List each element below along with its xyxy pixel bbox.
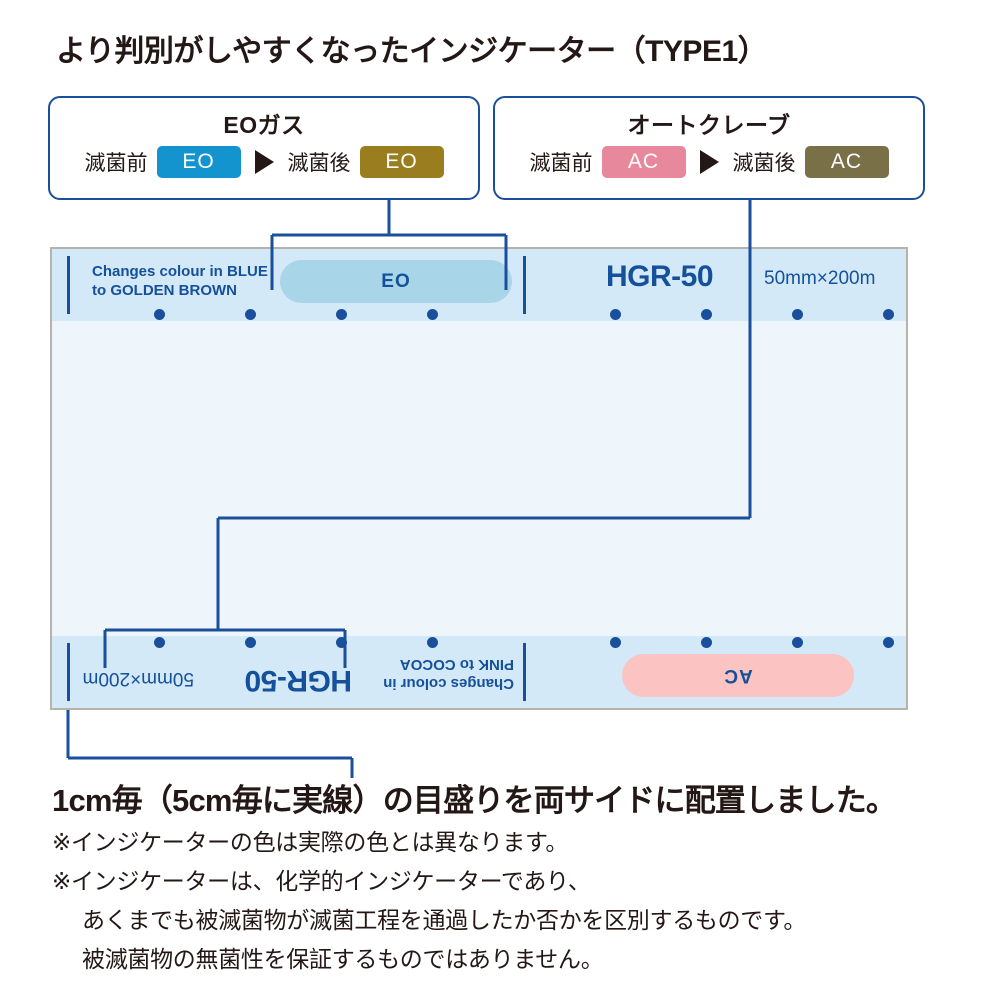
tick-dot-bottom <box>245 637 256 648</box>
tape-band-bottom: Changes colour in PINK to COCOA AC HGR-5… <box>52 636 906 708</box>
tick-solid-bottom <box>523 643 526 701</box>
tape-panel: Changes colour in BLUE to GOLDEN BROWN E… <box>50 247 908 710</box>
arrow-right-icon-eo <box>255 150 274 174</box>
tick-dot-bottom <box>154 637 165 648</box>
poster-root: より判別がしやすくなったインジケーター（TYPE1） EOガス 滅菌前 EO 滅… <box>0 0 1000 1000</box>
tick-dot-bottom <box>701 637 712 648</box>
tape-band-top: Changes colour in BLUE to GOLDEN BROWN E… <box>52 249 906 321</box>
tape-top-changes-text: Changes colour in BLUE to GOLDEN BROWN <box>92 263 268 301</box>
tick-solid-top <box>523 256 526 314</box>
legend-after-label-ac: 滅菌後 <box>733 147 796 177</box>
arrow-right-icon-ac <box>700 150 719 174</box>
footer-note-2: ※インジケーターは、化学的インジケーターであり、 <box>52 862 591 896</box>
tick-solid-bottom <box>67 643 70 701</box>
tape-bottom-model-name: HGR-50 <box>245 663 352 697</box>
legend-row-eo-gas: 滅菌前 EO 滅菌後 EO <box>50 146 478 178</box>
tick-dot-top <box>245 309 256 320</box>
tick-solid-top <box>67 256 70 314</box>
tape-bottom-size: 50mm×200m <box>83 667 194 689</box>
tape-top-changes-line2: to GOLDEN BROWN <box>92 282 268 301</box>
tape-top-size: 50mm×200m <box>764 268 875 290</box>
tape-bottom-content: Changes colour in PINK to COCOA AC HGR-5… <box>52 636 906 708</box>
tape-top-changes-line1: Changes colour in BLUE <box>92 263 268 282</box>
footer-headline: 1cm毎（5cm毎に実線）の目盛りを両サイドに配置しました。 <box>52 775 896 820</box>
tick-dot-top <box>154 309 165 320</box>
page-title: より判別がしやすくなったインジケーター（TYPE1） <box>56 26 767 70</box>
tick-dot-bottom <box>610 637 621 648</box>
footer-note-3: あくまでも被滅菌物が滅菌工程を通過したか否かを区別するものです。 <box>82 901 806 935</box>
tape-bottom-changes-text: Changes colour in PINK to COCOA <box>383 655 514 693</box>
tape-bottom-changes-line2: PINK to COCOA <box>383 655 514 674</box>
legend-box-autoclave: オートクレーブ 滅菌前 AC 滅菌後 AC <box>493 96 925 200</box>
footer-note-4: 被滅菌物の無菌性を保証するものではありません。 <box>82 940 603 974</box>
tick-dot-top <box>701 309 712 320</box>
tape-top-model-name: HGR-50 <box>606 260 713 294</box>
tick-dot-top <box>610 309 621 320</box>
legend-before-label-ac: 滅菌前 <box>530 147 593 177</box>
chip-ac-after: AC <box>805 146 889 178</box>
tape-bottom-changes-line1: Changes colour in <box>383 673 514 692</box>
legend-box-eo-gas: EOガス 滅菌前 EO 滅菌後 EO <box>48 96 480 200</box>
legend-after-label-eo: 滅菌後 <box>288 147 351 177</box>
indicator-pill-ac: AC <box>622 654 854 697</box>
chip-ac-before: AC <box>602 146 686 178</box>
chip-eo-after: EO <box>360 146 444 178</box>
indicator-pill-eo: EO <box>280 260 512 303</box>
legend-row-autoclave: 滅菌前 AC 滅菌後 AC <box>495 146 923 178</box>
chip-eo-before: EO <box>157 146 241 178</box>
legend-title-autoclave: オートクレーブ <box>495 106 923 140</box>
tape-top-content: Changes colour in BLUE to GOLDEN BROWN E… <box>52 249 906 321</box>
footer-note-1: ※インジケーターの色は実際の色とは異なります。 <box>52 823 568 857</box>
legend-title-eo-gas: EOガス <box>50 106 478 140</box>
legend-before-label-eo: 滅菌前 <box>85 147 148 177</box>
